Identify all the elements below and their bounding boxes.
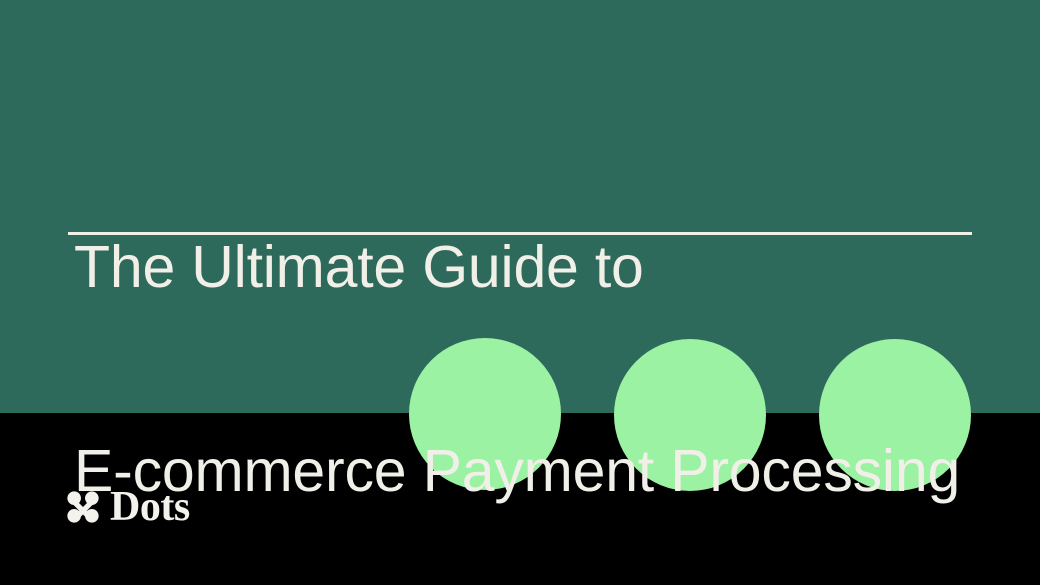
- page-title-line-2: E-commerce Payment Processing: [74, 437, 994, 505]
- title-divider-rule: [68, 232, 972, 235]
- brand-name: Dots: [110, 486, 190, 528]
- page-title-line-1: The Ultimate Guide to: [74, 233, 994, 301]
- dots-logo-icon: [66, 490, 100, 524]
- poster-canvas: The Ultimate Guide to E-commerce Payment…: [0, 0, 1040, 585]
- page-title: The Ultimate Guide to E-commerce Payment…: [74, 97, 994, 585]
- brand-lockup: Dots: [66, 486, 190, 528]
